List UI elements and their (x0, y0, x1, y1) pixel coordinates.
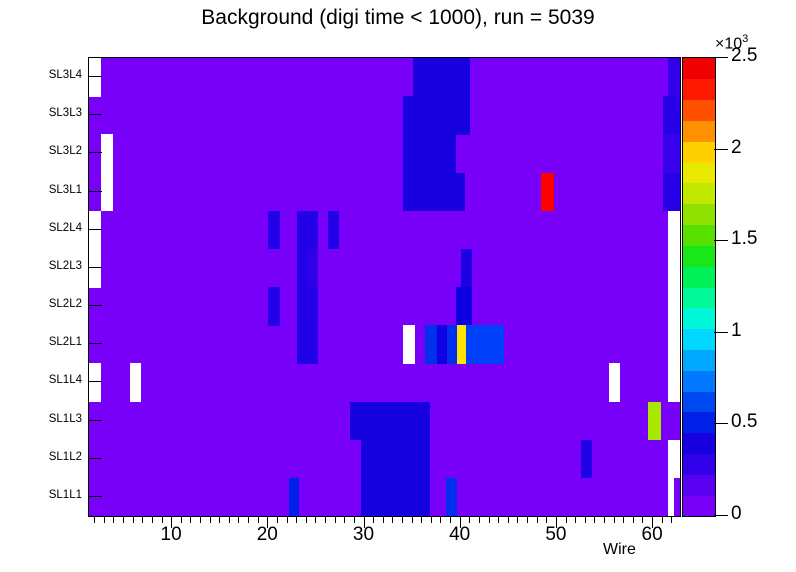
heatmap-cell (668, 325, 681, 364)
x-axis-label-20: 20 (242, 524, 292, 546)
x-axis-tick-minor (181, 516, 182, 523)
x-axis-tick-minor (162, 516, 163, 523)
heatmap-cell (308, 325, 319, 364)
heatmap-cell (297, 249, 308, 288)
heatmap-cell (289, 478, 299, 517)
heatmap-cell (89, 249, 101, 288)
heatmap-cell (403, 96, 470, 135)
z-axis-label-0: 0 (731, 503, 742, 525)
palette-band (683, 391, 715, 412)
heatmap-cell (425, 325, 437, 364)
x-axis-tick-minor (229, 516, 230, 523)
plot-frame (88, 57, 681, 517)
heatmap-cell (101, 173, 114, 212)
color-scale-bar (682, 57, 716, 517)
heatmap-cells (89, 58, 680, 516)
x-axis-tick-minor (277, 516, 278, 523)
y-axis-tick (88, 458, 102, 459)
root-canvas: Background (digi time < 1000), run = 503… (0, 0, 796, 572)
y-axis-label-sl2l1: SL2L1 (20, 336, 82, 348)
x-axis-tick-minor (306, 516, 307, 523)
x-axis-tick-minor (498, 516, 499, 523)
y-axis-tick (88, 305, 102, 306)
heatmap-cell (361, 440, 430, 479)
x-axis-tick-minor (325, 516, 326, 523)
palette-band (683, 495, 715, 516)
palette-band (683, 204, 715, 225)
y-axis-label-sl1l2: SL1L2 (20, 451, 82, 463)
x-axis-tick-minor (633, 516, 634, 523)
y-axis-label-sl1l3: SL1L3 (20, 413, 82, 425)
x-axis-tick-minor (412, 516, 413, 523)
y-axis-tick (88, 229, 102, 230)
y-axis-tick (88, 76, 102, 77)
y-axis-label-sl2l2: SL2L2 (20, 298, 82, 310)
palette-band (683, 349, 715, 370)
heatmap-cell (89, 211, 101, 250)
y-axis-label-sl1l1: SL1L1 (20, 489, 82, 501)
y-axis-tick (88, 496, 102, 497)
x-axis-tick-minor (219, 516, 220, 523)
heatmap-cell (437, 325, 448, 364)
heatmap-cell (663, 96, 680, 135)
x-axis-tick-minor (248, 516, 249, 523)
palette-band (683, 183, 715, 204)
heatmap-cell (308, 249, 319, 288)
palette-band (683, 245, 715, 266)
x-axis-tick-minor (113, 516, 114, 523)
x-axis-title: Wire (603, 541, 636, 559)
x-axis-tick-minor (440, 516, 441, 523)
z-axis-tick (714, 332, 728, 333)
heatmap-cell (328, 211, 340, 250)
heatmap-cell (663, 134, 680, 173)
z-axis-label-1: 1 (731, 320, 742, 342)
heatmap-cell (403, 173, 466, 212)
x-axis-label-50: 50 (531, 524, 581, 546)
x-axis-tick-minor (94, 516, 95, 523)
x-axis-tick-minor (238, 516, 239, 523)
x-axis-tick-minor (431, 516, 432, 523)
heatmap-cell (466, 325, 504, 364)
x-axis-tick-minor (392, 516, 393, 523)
page-title: Background (digi time < 1000), run = 503… (0, 6, 796, 30)
x-axis-tick-minor (344, 516, 345, 523)
z-axis-label-2: 2 (731, 137, 742, 159)
palette-band (683, 162, 715, 183)
heatmap-cell (461, 249, 473, 288)
palette-band (683, 433, 715, 454)
z-axis-tick (714, 515, 728, 516)
x-axis-tick-minor (575, 516, 576, 523)
heatmap-cell (297, 211, 318, 250)
heatmap-cell (297, 325, 308, 364)
heatmap-cell (668, 58, 681, 97)
heatmap-cell (456, 287, 472, 326)
palette-band (683, 329, 715, 350)
y-axis-tick (88, 152, 102, 153)
x-axis-tick-minor (142, 516, 143, 523)
x-axis-tick-minor (662, 516, 663, 523)
heatmap-cell (668, 287, 681, 326)
heatmap-cell (101, 134, 114, 173)
x-axis-tick-minor (671, 516, 672, 523)
heatmap-cell (663, 173, 680, 212)
x-axis-tick-minor (566, 516, 567, 523)
x-axis-tick-minor (594, 516, 595, 523)
x-axis-tick-minor (614, 516, 615, 523)
heatmap-cell (413, 58, 471, 97)
palette-band (683, 120, 715, 141)
heatmap-cell (609, 363, 621, 402)
x-axis-tick-minor (133, 516, 134, 523)
y-axis-label-sl3l3: SL3L3 (20, 107, 82, 119)
z-axis-label-0p5: 0.5 (731, 411, 757, 433)
z-axis-tick (714, 240, 728, 241)
palette-band (683, 141, 715, 162)
x-axis-tick-minor (335, 516, 336, 523)
heatmap-cell (668, 440, 681, 479)
x-axis-tick-minor (489, 516, 490, 523)
palette-band (683, 412, 715, 433)
x-axis-tick-minor (546, 516, 547, 523)
x-axis-tick-minor (469, 516, 470, 523)
x-axis-tick-minor (642, 516, 643, 523)
heatmap-cell (268, 287, 280, 326)
heatmap-cell (457, 325, 467, 364)
y-axis-tick (88, 114, 102, 115)
x-axis-tick-minor (383, 516, 384, 523)
heatmap-cell (297, 287, 318, 326)
heatmap-cell (668, 249, 681, 288)
heatmap-cell (541, 173, 554, 212)
y-axis-tick (88, 420, 102, 421)
x-axis-tick-minor (479, 516, 480, 523)
x-axis-tick-minor (450, 516, 451, 523)
x-axis-tick-minor (104, 516, 105, 523)
y-axis-label-sl3l1: SL3L1 (20, 184, 82, 196)
heatmap-cell (130, 363, 142, 402)
heatmap-cell (89, 363, 101, 402)
x-axis-tick-minor (315, 516, 316, 523)
heatmap-cell (350, 402, 430, 441)
heatmap-cell (89, 58, 101, 97)
palette-band (683, 100, 715, 121)
heatmap-cell (668, 363, 681, 402)
x-axis-tick-minor (287, 516, 288, 523)
heatmap-cell (668, 478, 675, 517)
z-exponent-power: 3 (742, 33, 748, 45)
y-axis-label-sl2l4: SL2L4 (20, 222, 82, 234)
x-axis-tick-minor (517, 516, 518, 523)
y-axis-label-sl1l4: SL1L4 (20, 374, 82, 386)
x-axis-tick-minor (210, 516, 211, 523)
palette-band (683, 266, 715, 287)
x-axis-tick-minor (123, 516, 124, 523)
x-axis-tick-minor (527, 516, 528, 523)
x-axis-tick-minor (200, 516, 201, 523)
z-axis-label-2p5: 2.5 (731, 45, 757, 67)
y-axis-tick (88, 343, 102, 344)
x-axis-tick-minor (258, 516, 259, 523)
palette-band (683, 58, 715, 79)
x-axis-label-10: 10 (146, 524, 196, 546)
y-axis-label-sl3l4: SL3L4 (20, 69, 82, 81)
heatmap-cell (403, 134, 456, 173)
x-axis-tick-minor (190, 516, 191, 523)
x-axis-tick-minor (604, 516, 605, 523)
heatmap-cell (447, 325, 457, 364)
x-axis-tick-minor (623, 516, 624, 523)
x-axis-label-40: 40 (435, 524, 485, 546)
x-axis-tick-minor (537, 516, 538, 523)
y-axis-label-sl2l3: SL2L3 (20, 260, 82, 272)
y-axis-tick (88, 191, 102, 192)
palette-band (683, 225, 715, 246)
palette-band (683, 308, 715, 329)
x-axis-tick-minor (508, 516, 509, 523)
palette-band (683, 79, 715, 100)
palette-band (683, 474, 715, 495)
heatmap-cell (648, 402, 661, 441)
y-axis-tick (88, 267, 102, 268)
palette-band (683, 287, 715, 308)
z-axis-tick (714, 149, 728, 150)
y-axis-tick (88, 381, 102, 382)
heatmap-cell (361, 478, 430, 517)
z-axis-tick (714, 423, 728, 424)
heatmap-cell (581, 440, 593, 479)
x-axis-tick-minor (152, 516, 153, 523)
heatmap-cell (446, 478, 457, 517)
y-axis-label-sl3l2: SL3L2 (20, 145, 82, 157)
palette-band (683, 454, 715, 475)
z-axis-tick (714, 57, 728, 58)
x-axis-tick-minor (585, 516, 586, 523)
palette-band (683, 370, 715, 391)
x-axis-tick-minor (421, 516, 422, 523)
heatmap-cell (403, 325, 416, 364)
heatmap-cell (668, 211, 681, 250)
x-axis-tick-minor (354, 516, 355, 523)
x-axis-tick-minor (402, 516, 403, 523)
x-axis-tick-minor (373, 516, 374, 523)
x-axis-label-30: 30 (339, 524, 389, 546)
z-axis-label-1p5: 1.5 (731, 228, 757, 250)
x-axis-tick-minor (296, 516, 297, 523)
heatmap-cell (268, 211, 280, 250)
